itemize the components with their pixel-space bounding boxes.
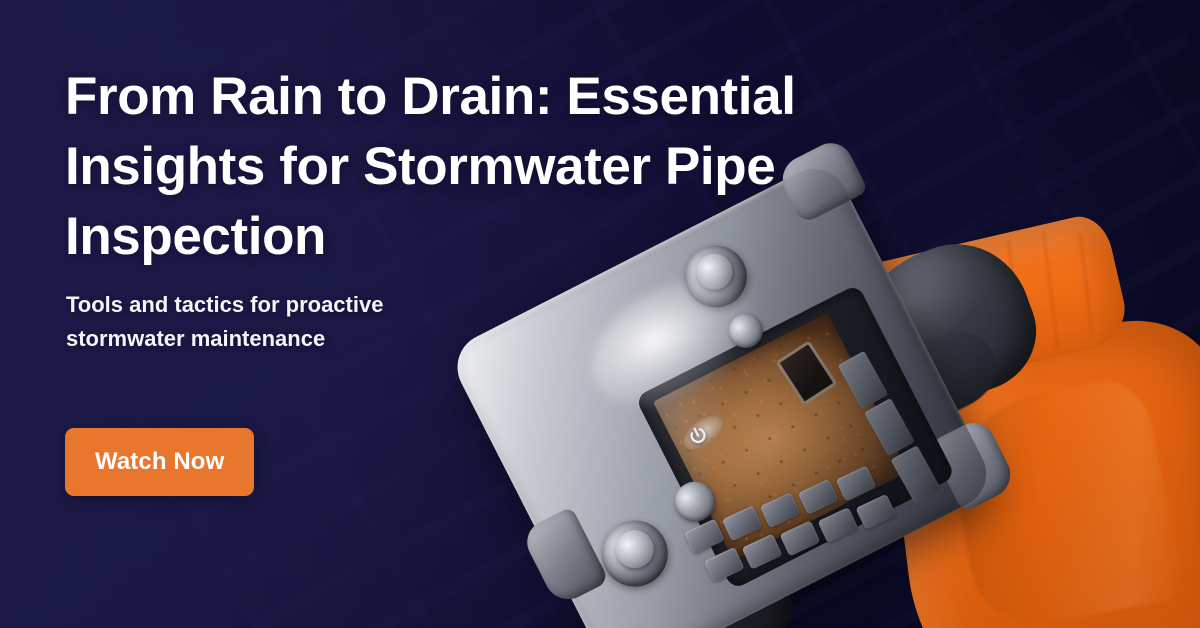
watch-now-button[interactable]: Watch Now: [65, 428, 254, 496]
marketing-banner: From Rain to Drain: Essential Insights f…: [0, 0, 1200, 628]
page-title: From Rain to Drain: Essential Insights f…: [65, 62, 835, 272]
keypad-rail-key: [891, 445, 941, 503]
banner-content: From Rain to Drain: Essential Insights f…: [65, 0, 845, 628]
banner-subtitle: Tools and tactics for proactive stormwat…: [66, 288, 486, 356]
keypad-key: [855, 494, 896, 530]
